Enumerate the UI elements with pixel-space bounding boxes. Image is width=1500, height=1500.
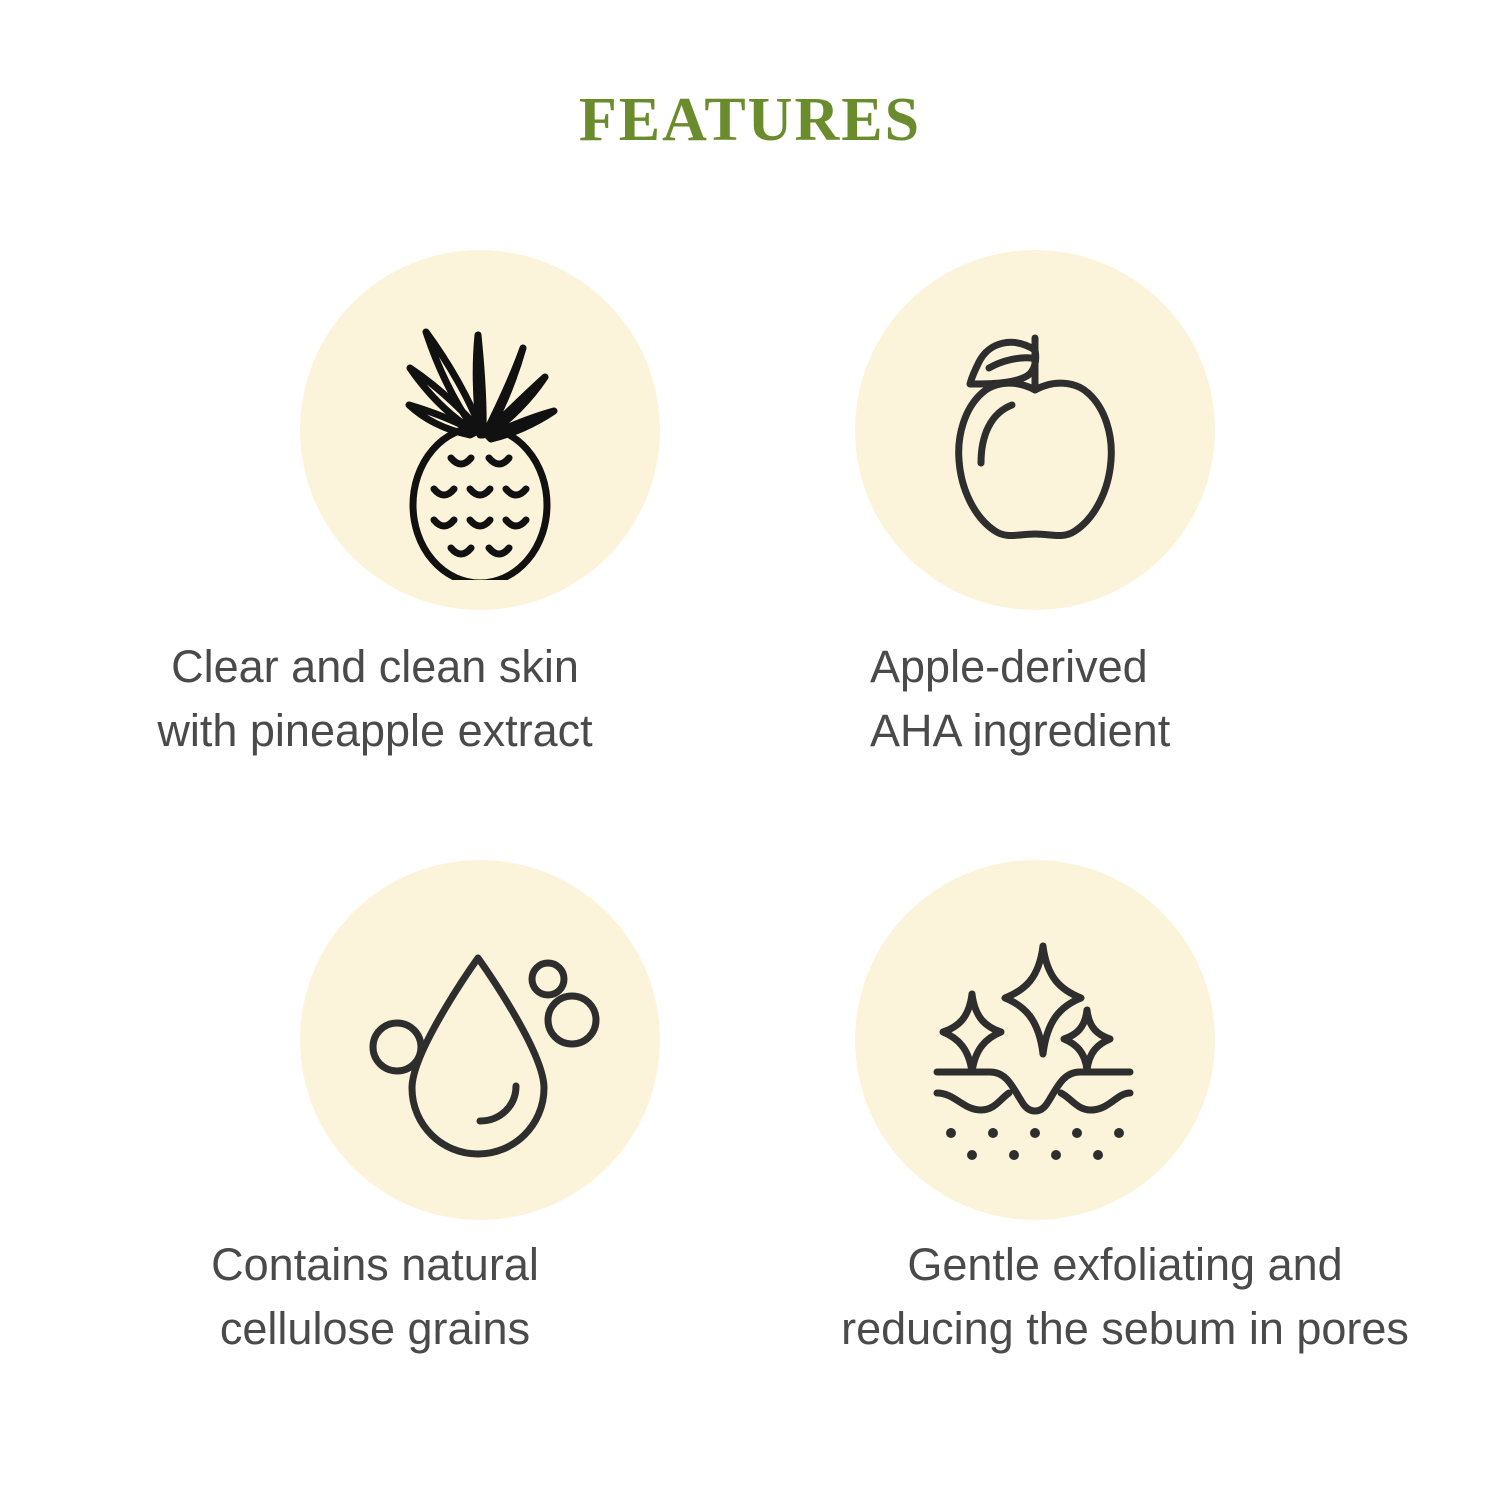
icon-badge-pineapple: [300, 250, 660, 610]
features-grid: Clear and clean skin with pineapple extr…: [0, 230, 1500, 1500]
icon-badge-water-drop: [300, 860, 660, 1220]
feature-caption: Contains natural cellulose grains: [0, 1233, 750, 1361]
feature-card-pineapple: Clear and clean skin with pineapple extr…: [0, 230, 750, 840]
water-drop-icon: [330, 890, 630, 1190]
apple-icon: [885, 280, 1185, 580]
feature-caption: Apple-derived AHA ingredient: [750, 635, 1500, 763]
page-title: FEATURES: [0, 85, 1500, 156]
icon-badge-apple: [855, 250, 1215, 610]
feature-caption: Clear and clean skin with pineapple extr…: [0, 635, 750, 763]
features-page: FEATURES: [0, 0, 1500, 1500]
feature-card-apple: Apple-derived AHA ingredient: [750, 230, 1500, 840]
feature-card-water-drop: Contains natural cellulose grains: [0, 840, 750, 1450]
pineapple-icon: [330, 280, 630, 580]
icon-badge-pores: [855, 860, 1215, 1220]
feature-card-pores: Gentle exfoliating and reducing the sebu…: [750, 840, 1500, 1450]
feature-caption: Gentle exfoliating and reducing the sebu…: [750, 1233, 1500, 1361]
sparkling-pores-icon: [885, 890, 1185, 1190]
